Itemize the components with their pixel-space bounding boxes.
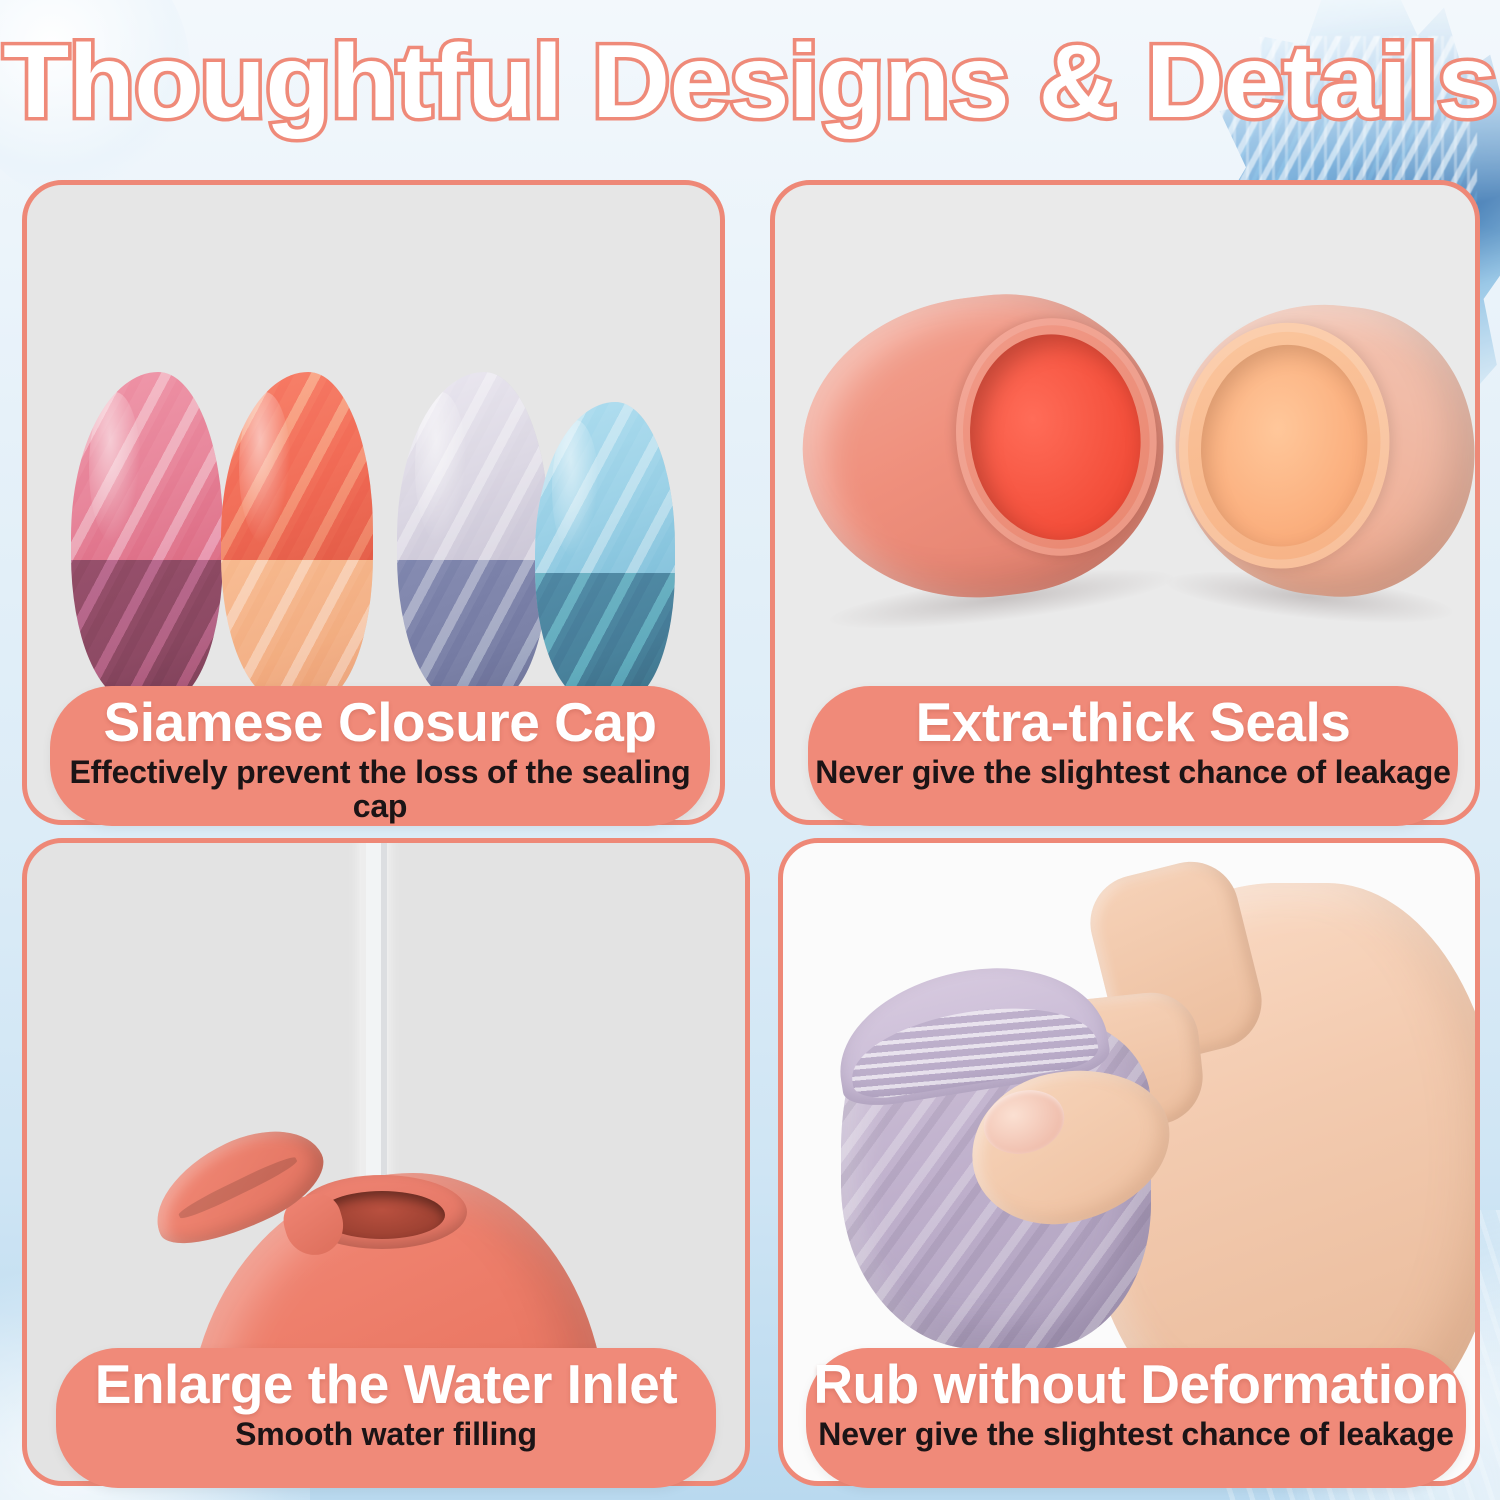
page-title: Thoughtful Designs & Details bbox=[0, 24, 1500, 140]
caption-headline: Siamese Closure Cap bbox=[50, 694, 710, 750]
caption-subtext: Effectively prevent the loss of the seal… bbox=[50, 756, 710, 823]
blue-bottle bbox=[535, 402, 675, 702]
caption-subtext: Never give the slightest chance of leaka… bbox=[806, 1418, 1466, 1452]
lavender-bottle bbox=[397, 372, 549, 702]
caption-headline: Rub without Deformation bbox=[806, 1356, 1466, 1412]
coral-bottle bbox=[221, 372, 373, 702]
caption-enlarge-the-water-inlet: Enlarge the Water Inlet Smooth water fil… bbox=[56, 1348, 716, 1488]
caption-subtext: Never give the slightest chance of leaka… bbox=[808, 756, 1458, 790]
coral-seal bbox=[786, 276, 1180, 618]
caption-rub-without-deformation: Rub without Deformation Never give the s… bbox=[806, 1348, 1466, 1488]
caption-extra-thick-seals: Extra-thick Seals Never give the slighte… bbox=[808, 686, 1458, 826]
orange-seal bbox=[1161, 290, 1480, 610]
product-feature-poster: Thoughtful Designs & Details bbox=[0, 0, 1500, 1500]
pink-bottle bbox=[71, 372, 223, 702]
caption-subtext: Smooth water filling bbox=[56, 1418, 716, 1452]
caption-headline: Extra-thick Seals bbox=[808, 694, 1458, 750]
caption-headline: Enlarge the Water Inlet bbox=[56, 1356, 716, 1412]
caption-siamese-closure-cap: Siamese Closure Cap Effectively prevent … bbox=[50, 686, 710, 826]
